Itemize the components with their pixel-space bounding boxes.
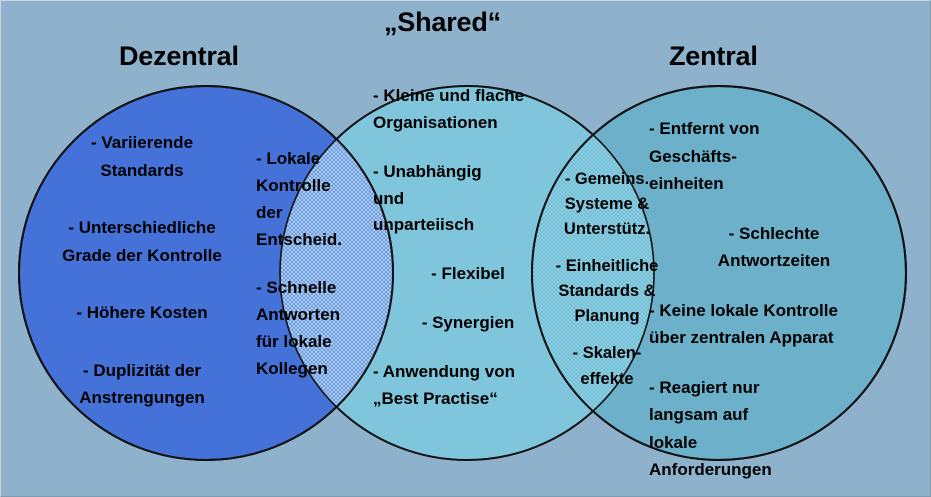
list-item: - Lokale Kontrolle der Entscheid. xyxy=(256,146,376,253)
venn-diagram-canvas: Dezentral „Shared“ Zentral - Variierende… xyxy=(0,0,931,497)
item-line: - Entfernt von xyxy=(649,115,899,143)
item-line: - Unterschiedliche xyxy=(23,214,261,242)
item-line: - Höhere Kosten xyxy=(23,299,261,327)
list-item: - Duplizität der Anstrengungen xyxy=(23,357,261,412)
item-line: - Flexibel xyxy=(373,261,563,288)
list-item: - Unabhängig und unparteiisch xyxy=(373,159,563,240)
item-line: - Keine lokale Kontrolle xyxy=(649,297,899,325)
item-line: Kontrolle xyxy=(256,173,376,200)
item-line: - Schlechte xyxy=(649,220,899,248)
item-line: - Kleine und flache xyxy=(373,83,563,110)
item-line: unparteiisch xyxy=(373,212,563,239)
list-item: - Höhere Kosten xyxy=(23,299,261,327)
item-line: und xyxy=(373,186,563,213)
title-shared: „Shared“ xyxy=(384,7,501,38)
item-line: über zentralen Apparat xyxy=(649,324,899,352)
region-left-items: - Variierende Standards - Unterschiedlic… xyxy=(23,129,261,442)
item-line: - Variierende xyxy=(23,129,261,157)
list-item: - Reagiert nur langsam auf lokale Anford… xyxy=(649,374,899,484)
item-line: Organisationen xyxy=(373,110,563,137)
item-line: lokale xyxy=(649,429,899,457)
item-line: - Duplizität der xyxy=(23,357,261,385)
item-line: - Schnelle xyxy=(256,275,376,302)
list-item: - Unterschiedliche Grade der Kontrolle xyxy=(23,214,261,269)
item-line: - Unabhängig xyxy=(373,159,563,186)
title-zentral: Zentral xyxy=(669,41,758,72)
item-line: - Lokale xyxy=(256,146,376,173)
region-left-center-items: - Lokale Kontrolle der Entscheid. - Schn… xyxy=(256,146,376,405)
list-item: - Schlechte Antwortzeiten xyxy=(649,220,899,275)
item-line: einheiten xyxy=(649,170,899,198)
item-line: Anstrengungen xyxy=(23,384,261,412)
item-line: der xyxy=(256,200,376,227)
list-item: - Entfernt von Geschäfts- einheiten xyxy=(649,115,899,198)
item-line: für lokale xyxy=(256,329,376,356)
title-dezentral: Dezentral xyxy=(119,41,239,72)
item-line: langsam auf xyxy=(649,401,899,429)
item-line: Grade der Kontrolle xyxy=(23,242,261,270)
item-line: Antwortzeiten xyxy=(649,247,899,275)
item-line: „Best Practise“ xyxy=(373,386,563,413)
list-item: - Variierende Standards xyxy=(23,129,261,184)
list-item: - Kleine und flache Organisationen xyxy=(373,83,563,137)
region-center-items: - Kleine und flache Organisationen - Una… xyxy=(373,83,563,435)
list-item: - Anwendung von „Best Practise“ xyxy=(373,359,563,413)
list-item: - Flexibel xyxy=(373,261,563,288)
item-line: - Anwendung von xyxy=(373,359,563,386)
item-line: Anforderungen xyxy=(649,456,899,484)
region-right-items: - Entfernt von Geschäfts- einheiten - Sc… xyxy=(649,115,899,497)
list-item: - Synergien xyxy=(373,310,563,337)
list-item: - Schnelle Antworten für lokale Kollegen xyxy=(256,275,376,382)
item-line: Kollegen xyxy=(256,356,376,383)
list-item: - Keine lokale Kontrolle über zentralen … xyxy=(649,297,899,352)
item-line: - Reagiert nur xyxy=(649,374,899,402)
item-line: Antworten xyxy=(256,302,376,329)
item-line: Entscheid. xyxy=(256,227,376,254)
item-line: - Synergien xyxy=(373,310,563,337)
item-line: Standards xyxy=(23,157,261,185)
item-line: Geschäfts- xyxy=(649,143,899,171)
